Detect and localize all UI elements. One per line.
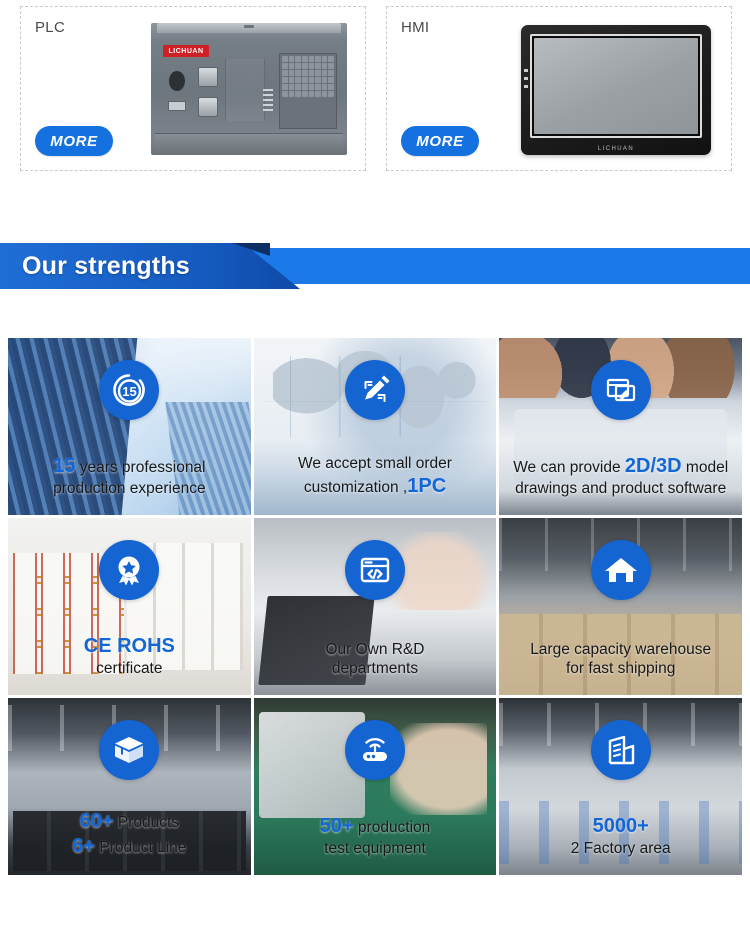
fifteen-years-icon: 15 [99,360,159,420]
strength-cell-test-equipment[interactable]: 50+ production test equipment [254,698,497,875]
strength-cell-years[interactable]: 15 15 years professional production expe… [8,338,251,515]
factory-area-size: 5000+ [505,814,736,839]
strength-text-factory-area: 5000+ 2 Factory area [505,814,736,859]
strength-text-products: 60+ Products 6+ Product Line [14,809,245,859]
warehouse-line2: for fast shipping [505,659,736,679]
years-label: years professional [75,459,205,476]
cad-line1-a: We can provide [513,459,625,476]
hmi-screen [534,38,698,134]
award-medal-icon [99,540,159,600]
strength-cell-certificate[interactable]: CE ROHS certificate [8,518,251,695]
certificate-standards: CE ROHS [14,634,245,659]
customize-pen-icon [345,360,405,420]
product-card-title-plc: PLC [35,19,65,36]
hmi-side-indicators [524,69,528,93]
cad-line2: drawings and product software [505,479,736,499]
strength-text-customization: We accept small order customization ,1PC [260,454,491,499]
strengths-grid: 15 15 years professional production expe… [8,338,742,875]
hmi-brand-logo: LICHUAN [521,146,711,152]
cad-line1-b: model [682,459,729,476]
product-lines-label: Product Line [95,839,186,856]
strength-text-years: 15 years professional production experie… [14,454,245,499]
products-label: Products [114,814,179,831]
plc-middle-panel [225,59,265,121]
factory-building-icon [591,720,651,780]
plc-terminal-block [279,53,337,129]
strength-text-certificate: CE ROHS certificate [14,634,245,679]
package-box-icon [99,720,159,780]
plc-bottom-cap [155,133,343,155]
plc-usb-port [168,101,186,111]
strength-cell-products[interactable]: 60+ Products 6+ Product Line [8,698,251,875]
plc-top-cap [157,23,341,33]
warehouse-home-icon [591,540,651,600]
strength-cell-factory-area[interactable]: 5000+ 2 Factory area [499,698,742,875]
products-count: 60+ [80,810,114,832]
more-button-hmi[interactable]: MORE [401,126,479,156]
product-card-title-hmi: HMI [401,19,429,36]
plc-dial-knob [169,71,185,91]
plc-status-leds [263,89,273,111]
strength-text-warehouse: Large capacity warehouse for fast shippi… [505,640,736,679]
strength-cell-cad-model[interactable]: We can provide 2D/3D model drawings and … [499,338,742,515]
section-banner-our-strengths: Our strengths [0,243,750,289]
years-line2: production experience [14,479,245,499]
factory-count-label: 2 Factory area [505,839,736,859]
plc-ethernet-port-1 [198,67,218,87]
page-root: PLC LICHUAN [0,0,750,925]
product-lines-count: 6+ [72,835,95,857]
years-count: 15 [53,455,75,477]
rd-line1: Our Own R&D [260,640,491,660]
customization-line1: We accept small order [260,454,491,474]
strength-cell-customization[interactable]: We accept small order customization ,1PC [254,338,497,515]
test-equipment-count: 50+ [320,815,354,837]
code-window-icon [345,540,405,600]
product-card-plc[interactable]: PLC LICHUAN [20,6,366,171]
certificate-label: certificate [14,659,245,679]
customization-qty: 1PC [407,475,446,497]
plc-device-image: LICHUAN [151,23,347,155]
strength-cell-warehouse[interactable]: Large capacity warehouse for fast shippi… [499,518,742,695]
strength-cell-rd-department[interactable]: Our Own R&D departments [254,518,497,695]
section-title: Our strengths [22,243,190,289]
hmi-bezel [530,34,702,138]
product-card-hmi[interactable]: HMI LICHUAN MORE [386,6,732,171]
hmi-device-image: LICHUAN [521,25,711,155]
more-button-plc[interactable]: MORE [35,126,113,156]
rd-line2: departments [260,659,491,679]
customization-line2-pre: customization , [304,479,407,496]
cad-drawing-icon [591,360,651,420]
strength-text-test-equipment: 50+ production test equipment [260,814,491,859]
plc-brand-logo: LICHUAN [163,45,209,57]
plc-ethernet-port-2 [198,97,218,117]
test-equipment-line2: test equipment [260,839,491,859]
strength-text-rd-department: Our Own R&D departments [260,640,491,679]
cad-model-types: 2D/3D [625,455,682,477]
strength-text-cad-model: We can provide 2D/3D model drawings and … [505,454,736,499]
router-wifi-icon [345,720,405,780]
product-card-row: PLC LICHUAN [20,6,732,171]
test-equipment-label: production [354,819,431,836]
svg-text:15: 15 [123,384,137,399]
warehouse-line1: Large capacity warehouse [505,640,736,660]
